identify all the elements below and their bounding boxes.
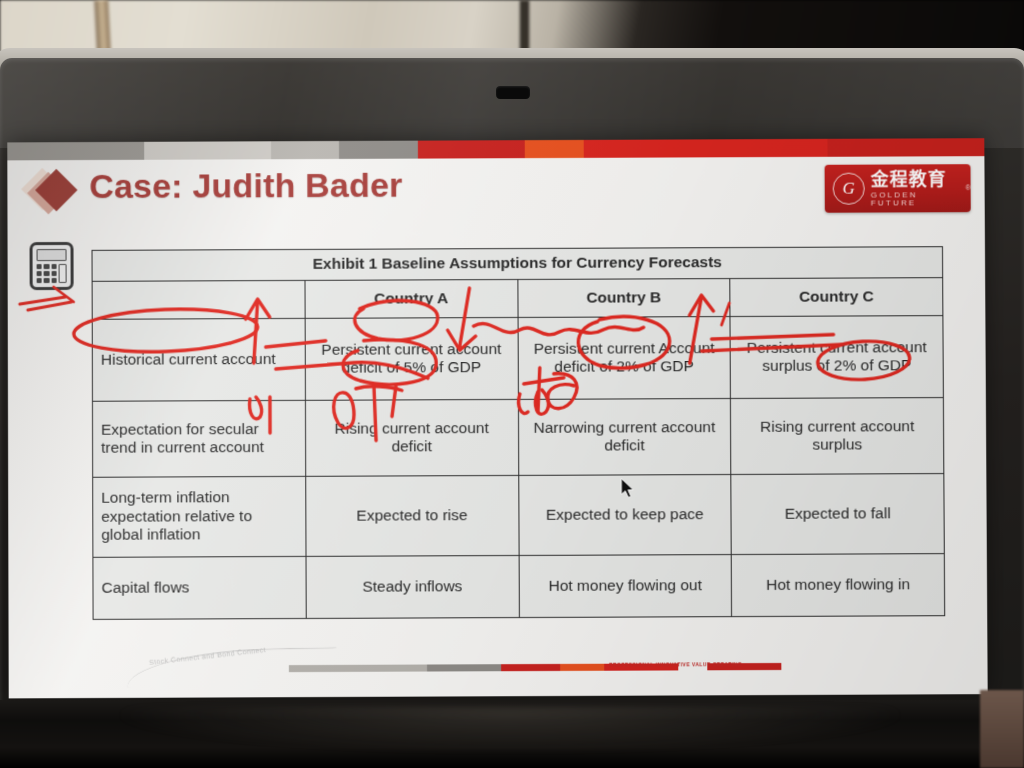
cell-secular-c: Rising current account surplus: [731, 398, 944, 475]
table-row: Capital flows Steady inflows Hot money f…: [93, 554, 945, 620]
band-seg-3: [271, 141, 339, 159]
cell-capital-b: Hot money flowing out: [519, 555, 732, 618]
column-header-country-c: Country C: [730, 278, 943, 317]
calculator-keys: [37, 264, 57, 283]
band-seg-4: [339, 141, 417, 159]
brand-text: 金程教育 GOLDEN FUTURE: [871, 170, 960, 207]
row-label-capital-flows: Capital flows: [93, 557, 306, 620]
cell-secular-b: Narrowing current account deficit: [518, 399, 731, 476]
footer-seg-1: [289, 665, 427, 673]
cell-capital-a: Steady inflows: [306, 556, 519, 619]
footer-seg-3: [501, 664, 560, 671]
cell-inflation-c: Expected to fall: [731, 474, 944, 555]
exhibit-caption: Exhibit 1 Baseline Assumptions for Curre…: [92, 247, 943, 282]
table-row: Long-term inflation expectation relative…: [93, 474, 945, 558]
band-seg-8: [828, 138, 984, 157]
cell-historical-a: Persistent current account deficit of 5%…: [305, 318, 518, 401]
footer-tagline: PROFESSIONAL INNOVATIVE VALUE CREATING: [609, 662, 742, 669]
desk-edge: [980, 690, 1024, 768]
footer-seg-2: [427, 664, 501, 671]
calculator-enter-key: [59, 264, 67, 283]
brand-name-cn: 金程教育: [871, 170, 960, 188]
column-header-country-a: Country A: [305, 280, 518, 319]
brand-name-en: GOLDEN FUTURE: [871, 191, 960, 207]
exhibit-table-wrapper: Exhibit 1 Baseline Assumptions for Curre…: [92, 246, 946, 620]
brand-logo: G 金程教育 GOLDEN FUTURE ®: [825, 164, 971, 213]
diamond-logo-icon: [25, 170, 85, 214]
mouse-cursor: [620, 477, 636, 499]
footer-seg-4: [560, 664, 604, 671]
brand-seal-icon: G: [833, 173, 865, 205]
band-seg-1: [7, 142, 144, 161]
band-seg-5: [418, 140, 526, 158]
table-caption-row: Exhibit 1 Baseline Assumptions for Curre…: [92, 247, 943, 282]
table-row: Historical current account Persistent cu…: [92, 316, 943, 402]
presentation-slide[interactable]: Case: Judith Bader G 金程教育 GOLDEN FUTURE …: [7, 138, 987, 698]
cell-historical-b: Persistent current Account deficit of 2%…: [518, 317, 731, 400]
cell-secular-a: Rising current account deficit: [305, 400, 518, 477]
column-header-country-b: Country B: [517, 279, 730, 318]
cell-inflation-a: Expected to rise: [305, 476, 518, 557]
slide-header: Case: Judith Bader G 金程教育 GOLDEN FUTURE …: [7, 156, 984, 222]
row-label-secular-trend: Expectation for secular trend in current…: [92, 401, 305, 478]
keyboard-area: [120, 706, 900, 752]
band-seg-6: [525, 140, 584, 158]
exhibit-table: Exhibit 1 Baseline Assumptions for Curre…: [92, 246, 946, 620]
registered-mark-icon: ®: [965, 185, 970, 192]
calculator-icon: [30, 242, 74, 290]
band-seg-2: [144, 141, 271, 160]
cell-capital-c: Hot money flowing in: [731, 554, 944, 617]
calculator-display: [37, 249, 67, 261]
photo-scene: Case: Judith Bader G 金程教育 GOLDEN FUTURE …: [0, 0, 1024, 768]
left-margin-arrow-annotation: [20, 287, 74, 310]
row-label-long-term-inflation: Long-term inflation expectation relative…: [93, 477, 306, 558]
page-title: Case: Judith Bader: [89, 167, 402, 207]
webcam-lens: [496, 86, 530, 99]
cell-historical-c: Persistent current account surplus of 2%…: [730, 316, 943, 399]
column-header-blank: [92, 281, 305, 320]
table-row: Expectation for secular trend in current…: [92, 398, 943, 478]
band-seg-7: [584, 139, 828, 158]
table-header-row: Country A Country B Country C: [92, 278, 943, 320]
row-label-historical-current-account: Historical current account: [92, 319, 305, 402]
